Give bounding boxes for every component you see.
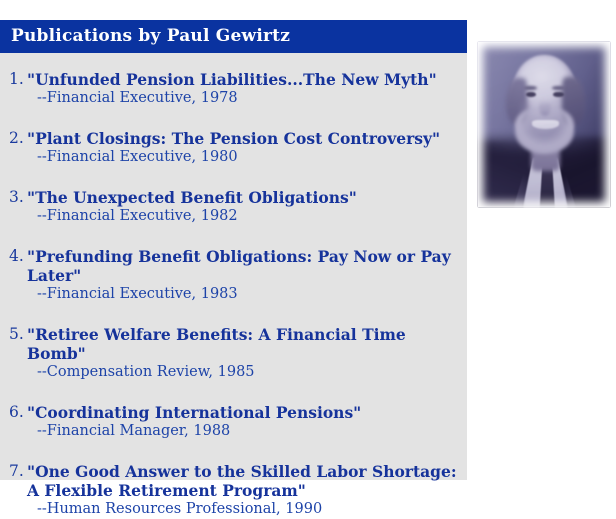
publication-source: --Financial Executive, 1982 — [27, 207, 461, 226]
list-item: 4. "Prefunding Benefit Obligations: Pay … — [0, 247, 467, 304]
portrait-color-cast — [478, 42, 610, 207]
publication-title: "One Good Answer to the Skilled Labor Sh… — [27, 462, 461, 500]
list-item: 7. "One Good Answer to the Skilled Labor… — [0, 462, 467, 519]
list-item-number: 3. — [9, 188, 27, 206]
list-item-number: 4. — [9, 247, 27, 265]
publications-list: 1. "Unfunded Pension Liabilities...The N… — [0, 53, 467, 480]
list-item-number: 7. — [9, 462, 27, 480]
list-item-number: 6. — [9, 403, 27, 421]
list-item-number: 1. — [9, 70, 27, 88]
portrait-photo — [478, 42, 610, 207]
publication-title: "Retiree Welfare Benefits: A Financial T… — [27, 325, 461, 363]
publication-source: --Financial Manager, 1988 — [27, 422, 461, 441]
publication-source: --Financial Executive, 1978 — [27, 89, 461, 108]
publication-source: --Financial Executive, 1980 — [27, 148, 461, 167]
publication-title: "Unfunded Pension Liabilities...The New … — [27, 70, 461, 89]
page-title: Publications by Paul Gewirtz — [11, 26, 290, 46]
publication-source: --Compensation Review, 1985 — [27, 363, 461, 382]
publication-source: --Financial Executive, 1983 — [27, 285, 461, 304]
portrait-image — [478, 42, 610, 207]
publication-title: "Coordinating International Pensions" — [27, 403, 461, 422]
publication-title: "Prefunding Benefit Obligations: Pay Now… — [27, 247, 461, 285]
list-item: 2. "Plant Closings: The Pension Cost Con… — [0, 129, 467, 167]
list-item: 5. "Retiree Welfare Benefits: A Financia… — [0, 325, 467, 382]
publication-source: --Human Resources Professional, 1990 — [27, 500, 461, 519]
list-item: 1. "Unfunded Pension Liabilities...The N… — [0, 70, 467, 108]
publication-title: "The Unexpected Benefit Obligations" — [27, 188, 461, 207]
publications-panel: Publications by Paul Gewirtz 1. "Unfunde… — [0, 20, 467, 480]
list-item: 3. "The Unexpected Benefit Obligations" … — [0, 188, 467, 226]
list-item: 6. "Coordinating International Pensions"… — [0, 403, 467, 441]
list-item-number: 2. — [9, 129, 27, 147]
publications-header-bar: Publications by Paul Gewirtz — [0, 20, 467, 53]
publication-title: "Plant Closings: The Pension Cost Contro… — [27, 129, 461, 148]
list-item-number: 5. — [9, 325, 27, 343]
